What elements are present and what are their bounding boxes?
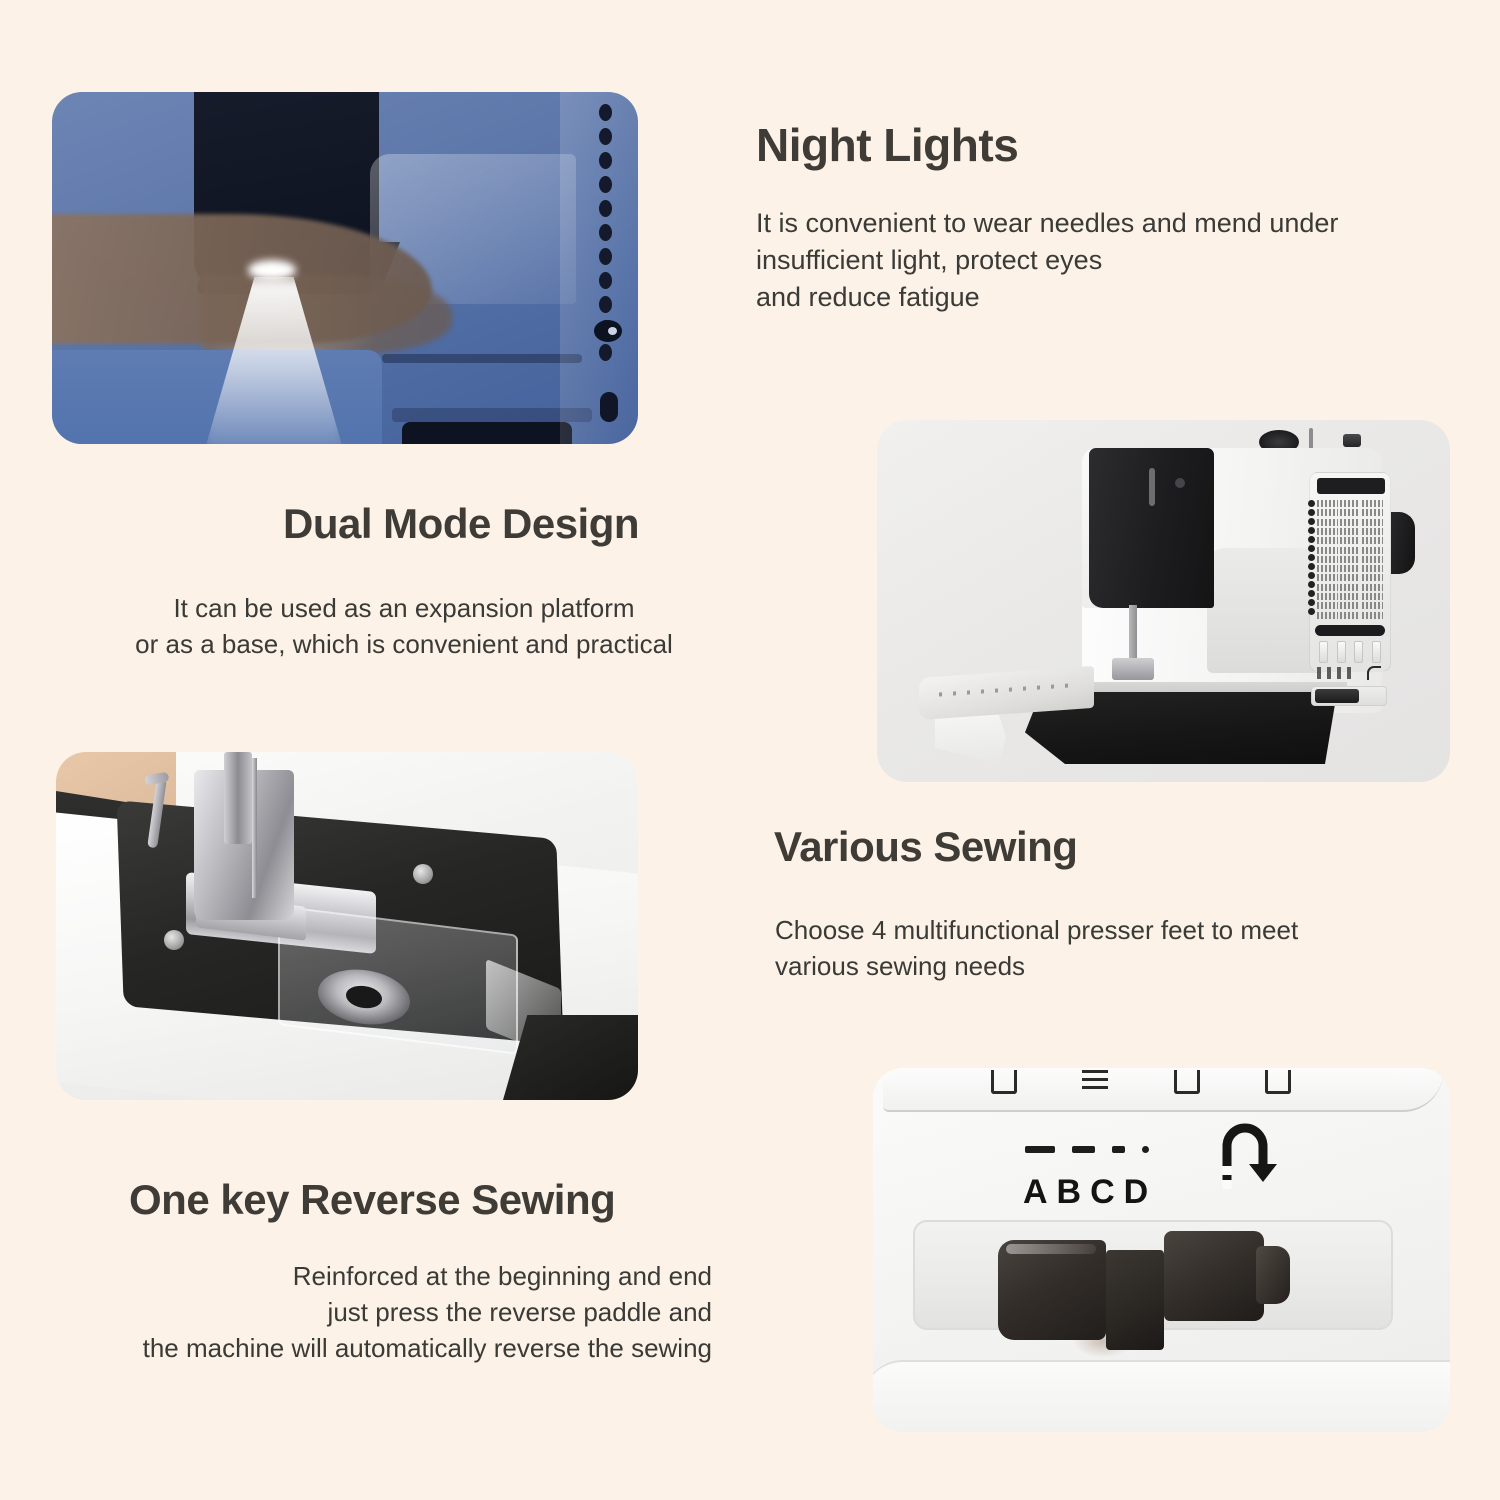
various-sewing-photo bbox=[56, 752, 638, 1100]
needle-plate-screw-left bbox=[164, 930, 184, 950]
dual-mode-design-photo bbox=[877, 420, 1450, 782]
buttonhole-slots bbox=[1319, 641, 1381, 663]
one-key-reverse-sewing-body-line-2: just press the reverse paddle and bbox=[56, 1294, 712, 1330]
stitch-length-dash-marks bbox=[1025, 1146, 1149, 1153]
stitch-selector-dots bbox=[1308, 500, 1315, 615]
one-key-reverse-sewing-body-line-1: Reinforced at the beginning and end bbox=[56, 1258, 712, 1294]
night-lights-photo bbox=[52, 92, 638, 444]
reverse-lever-left-block bbox=[998, 1240, 1106, 1340]
night-lights-body-line-1: It is convenient to wear needles and men… bbox=[756, 205, 1338, 242]
dual-mode-design-body-line-1: It can be used as an expansion platform bbox=[92, 590, 716, 626]
reverse-lever-end-cap bbox=[1256, 1246, 1290, 1304]
various-sewing-heading: Various Sewing bbox=[774, 823, 1077, 871]
one-key-reverse-sewing-body: Reinforced at the beginning and end just… bbox=[56, 1258, 712, 1366]
tension-dial-shape bbox=[1175, 478, 1185, 488]
dual-mode-design-heading: Dual Mode Design bbox=[283, 500, 639, 548]
reverse-lever-highlight bbox=[1006, 1244, 1096, 1254]
various-sewing-body-line-2: various sewing needs bbox=[775, 948, 1298, 984]
slot-icon-1 bbox=[991, 1070, 1017, 1094]
dash-short bbox=[1112, 1146, 1125, 1153]
side-button-shape bbox=[600, 392, 618, 422]
night-lights-body-line-2: insufficient light, protect eyes bbox=[756, 242, 1338, 279]
dash-medium bbox=[1072, 1146, 1095, 1153]
machine-head-highlight bbox=[1149, 468, 1155, 506]
stitch-length-letters: ABCD bbox=[1023, 1173, 1157, 1212]
reverse-arrow-icon bbox=[1219, 1120, 1281, 1197]
needle-bar-shape bbox=[1129, 605, 1137, 660]
stitch-chart-lower-bar bbox=[1315, 625, 1385, 636]
reverse-arrow-icon bbox=[1367, 666, 1381, 680]
power-indicator-dot bbox=[594, 320, 622, 342]
slot-icon-3 bbox=[1174, 1070, 1200, 1094]
various-sewing-body-line-1: Choose 4 multifunctional presser feet to… bbox=[775, 912, 1298, 948]
buttonhole-slot-icons bbox=[991, 1070, 1291, 1096]
reverse-lever-shape bbox=[1315, 689, 1359, 703]
stitch-length-marks bbox=[1317, 667, 1357, 679]
presser-foot-shape bbox=[1112, 658, 1154, 680]
dash-long bbox=[1025, 1146, 1055, 1153]
presser-bar-shank-shape bbox=[224, 752, 252, 844]
bed-dark-panel-shape bbox=[402, 422, 572, 444]
machine-bottom-face-shape bbox=[873, 1360, 1450, 1432]
slot-icon-4 bbox=[1265, 1070, 1291, 1094]
slot-icon-2 bbox=[1082, 1070, 1108, 1094]
night-lights-body-line-3: and reduce fatigue bbox=[756, 279, 1338, 316]
machine-neck-shape bbox=[1207, 548, 1322, 673]
infographic-canvas: Night Lights It is convenient to wear ne… bbox=[0, 0, 1500, 1500]
reverse-lever-middle-block bbox=[1106, 1250, 1164, 1350]
night-lights-heading: Night Lights bbox=[756, 118, 1018, 172]
various-sewing-body: Choose 4 multifunctional presser feet to… bbox=[775, 912, 1298, 984]
reverse-lever-right-block bbox=[1164, 1231, 1264, 1321]
stitch-pattern-grid bbox=[1317, 500, 1383, 620]
needle-plate-screw-right bbox=[413, 864, 433, 884]
night-lights-body: It is convenient to wear needles and men… bbox=[756, 205, 1338, 316]
led-bulb-glow bbox=[248, 260, 296, 280]
one-key-reverse-sewing-heading: One key Reverse Sewing bbox=[129, 1176, 615, 1224]
dual-mode-design-body-line-2: or as a base, which is convenient and pr… bbox=[92, 626, 716, 662]
top-knob-shape bbox=[1343, 434, 1361, 447]
dash-dot bbox=[1142, 1146, 1149, 1153]
dual-mode-design-body: It can be used as an expansion platform … bbox=[92, 590, 716, 662]
one-key-reverse-sewing-body-line-3: the machine will automatically reverse t… bbox=[56, 1330, 712, 1366]
bed-seam-line bbox=[382, 354, 582, 363]
needle-shape bbox=[252, 758, 257, 898]
one-key-reverse-sewing-photo: ABCD bbox=[873, 1068, 1450, 1432]
side-control-panel-shape bbox=[560, 92, 638, 444]
stitch-chart-header-bar bbox=[1317, 478, 1385, 494]
